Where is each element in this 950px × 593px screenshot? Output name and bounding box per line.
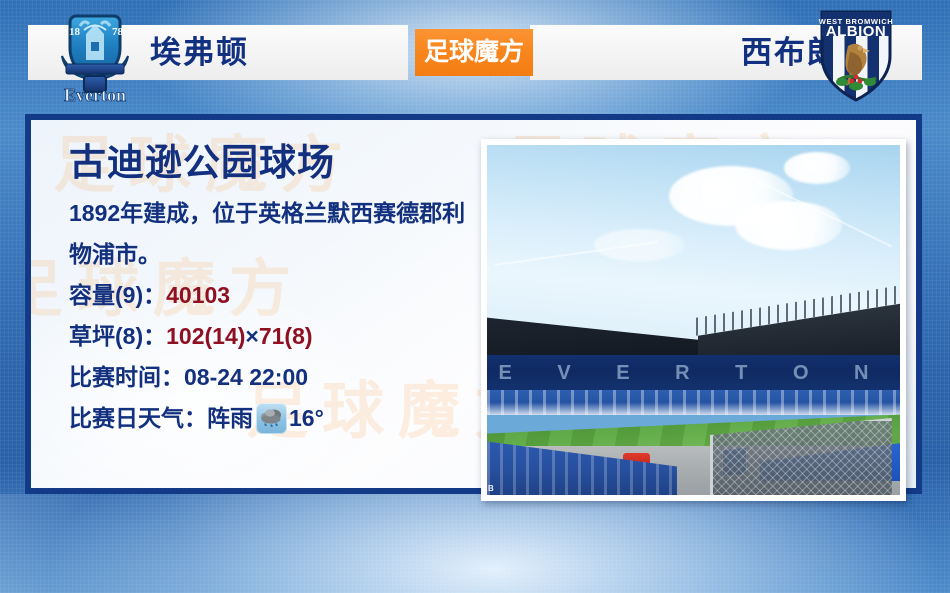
home-team-name: 埃弗顿	[150, 30, 249, 76]
weather-temperature: 16°	[289, 398, 324, 439]
photo-cloud	[784, 152, 850, 184]
photo-far-seats	[487, 390, 900, 415]
weather-label: 比赛日天气	[69, 398, 184, 439]
stadium-info-card: 18 78 Everton 埃弗顿 足球魔方 西布朗	[0, 0, 950, 593]
crest-club-text: Everton	[64, 85, 126, 104]
photo-stand-lettering: E V E R T O N	[487, 360, 900, 388]
match-time-row: 比赛时间：08-24 22:00	[69, 357, 499, 398]
pitch-size-row: 草坪(8)：102(14)×71(8)	[69, 316, 499, 357]
pitch-cross-symbol: ×	[245, 323, 258, 349]
goodison-park-stadium-photo: E V E R T O N B	[487, 145, 900, 495]
stadium-title: 古迪逊公园球场	[69, 138, 499, 188]
capacity-label: 容量(9)	[69, 282, 143, 308]
west-bromwich-albion-crest[interactable]: WEST BROMWICH ALBION	[806, 2, 906, 105]
crest-year-right: 78	[112, 26, 124, 38]
capacity-row: 容量(9)：40103	[69, 275, 499, 316]
rain-cloud-icon	[256, 403, 287, 434]
brand-logo[interactable]: 足球魔方	[415, 29, 533, 76]
stadium-description: 1892年建成，位于英格兰默西赛德郡利物浦市。	[69, 193, 484, 275]
everton-crest[interactable]: 18 78 Everton	[46, 4, 144, 104]
photo-corner-tag: B	[488, 484, 494, 493]
capacity-value: 40103	[166, 282, 230, 308]
pitch-label: 草坪(8)	[69, 323, 143, 349]
photo-cloud	[735, 201, 842, 250]
pitch-width-value: 71(8)	[259, 323, 313, 349]
background-light-beam	[0, 494, 300, 593]
match-time-label: 比赛时间	[69, 364, 161, 390]
weather-condition: 阵雨	[207, 398, 253, 439]
match-time-separator: ：	[161, 364, 184, 390]
match-day-weather-row: 比赛日天气：阵雨	[69, 398, 499, 439]
pitch-separator: ：	[143, 323, 166, 349]
wba-crest-line2: ALBION	[826, 23, 887, 40]
match-time-value: 08-24 22:00	[184, 364, 308, 390]
crest-year-left: 18	[69, 26, 81, 38]
weather-separator: ：	[184, 398, 207, 439]
stadium-info-block: 古迪逊公园球场 1892年建成，位于英格兰默西赛德郡利物浦市。 容量(9)：40…	[69, 138, 499, 439]
capacity-separator: ：	[143, 282, 166, 308]
pitch-length-value: 102(14)	[166, 323, 245, 349]
stadium-photo-frame[interactable]: E V E R T O N B	[481, 139, 906, 501]
match-header: 18 78 Everton 埃弗顿 足球魔方 西布朗	[0, 0, 950, 108]
